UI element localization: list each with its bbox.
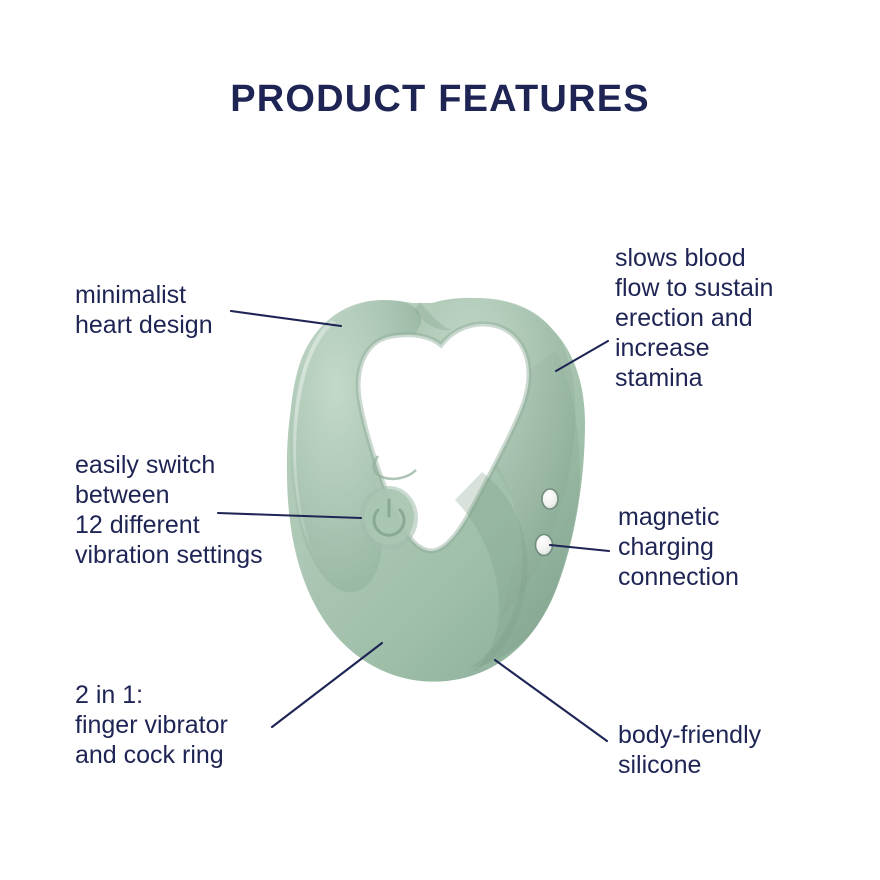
callout-vibration-settings: easily switch between 12 different vibra… [75, 450, 355, 570]
product-features-infographic: PRODUCT FEATURES [0, 0, 880, 880]
callout-slows-blood-flow: slows blood flow to sustain erection and… [615, 243, 865, 393]
callout-body-friendly-silicone: body-friendly silicone [618, 720, 868, 780]
charging-pin-upper [542, 489, 558, 509]
callout-two-in-one: 2 in 1: finger vibrator and cock ring [75, 680, 375, 770]
callout-magnetic-charging: magnetic charging connection [618, 502, 868, 592]
power-button[interactable] [360, 486, 418, 550]
callout-minimalist-heart-design: minimalist heart design [75, 280, 355, 340]
leader-body-friendly-silicone [495, 660, 607, 741]
